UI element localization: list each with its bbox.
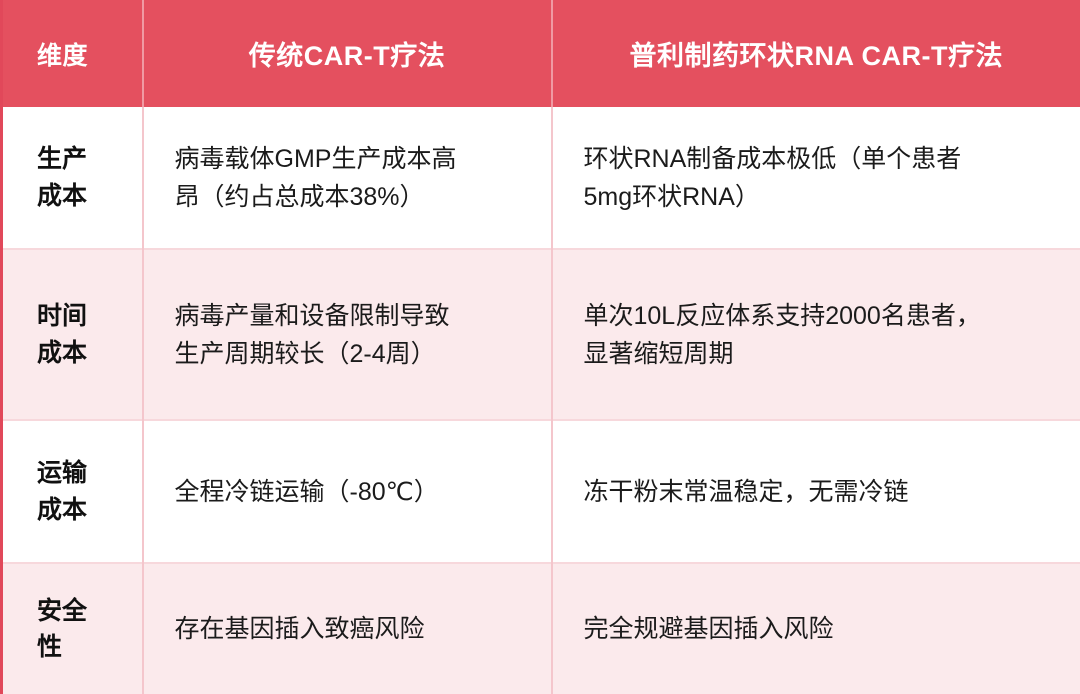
car-t-comparison-table: 维度 传统CAR-T疗法 普利制药环状RNA CAR-T疗法 生产 成本 病毒载… [0, 0, 1080, 694]
cell-traditional-time-cost: 病毒产量和设备限制导致 生产周期较长（2-4周） [143, 249, 552, 420]
table-row: 安全 性 存在基因插入致癌风险 完全规避基因插入风险 [2, 563, 1080, 694]
row-label-safety: 安全 性 [2, 563, 143, 694]
cell-traditional-production-cost: 病毒载体GMP生产成本高 昂（约占总成本38%） [143, 107, 552, 249]
header-row: 维度 传统CAR-T疗法 普利制药环状RNA CAR-T疗法 [2, 0, 1080, 107]
table-row: 生产 成本 病毒载体GMP生产成本高 昂（约占总成本38%） 环状RNA制备成本… [2, 107, 1080, 249]
table-row: 时间 成本 病毒产量和设备限制导致 生产周期较长（2-4周） 单次10L反应体系… [2, 249, 1080, 420]
table-row: 运输 成本 全程冷链运输（-80℃） 冻干粉末常温稳定，无需冷链 [2, 420, 1080, 563]
row-label-time-cost: 时间 成本 [2, 249, 143, 420]
cell-puli-safety: 完全规避基因插入风险 [552, 563, 1080, 694]
cell-puli-transport-cost: 冻干粉末常温稳定，无需冷链 [552, 420, 1080, 563]
table-header: 维度 传统CAR-T疗法 普利制药环状RNA CAR-T疗法 [2, 0, 1080, 107]
cell-traditional-transport-cost: 全程冷链运输（-80℃） [143, 420, 552, 563]
table-body: 生产 成本 病毒载体GMP生产成本高 昂（约占总成本38%） 环状RNA制备成本… [2, 107, 1080, 694]
column-header-traditional-car-t: 传统CAR-T疗法 [143, 0, 552, 107]
cell-puli-time-cost: 单次10L反应体系支持2000名患者， 显著缩短周期 [552, 249, 1080, 420]
column-header-dimension: 维度 [2, 0, 143, 107]
column-header-puli-circular-rna-car-t: 普利制药环状RNA CAR-T疗法 [552, 0, 1080, 107]
row-label-production-cost: 生产 成本 [2, 107, 143, 249]
cell-puli-production-cost: 环状RNA制备成本极低（单个患者 5mg环状RNA） [552, 107, 1080, 249]
row-label-transport-cost: 运输 成本 [2, 420, 143, 563]
cell-traditional-safety: 存在基因插入致癌风险 [143, 563, 552, 694]
